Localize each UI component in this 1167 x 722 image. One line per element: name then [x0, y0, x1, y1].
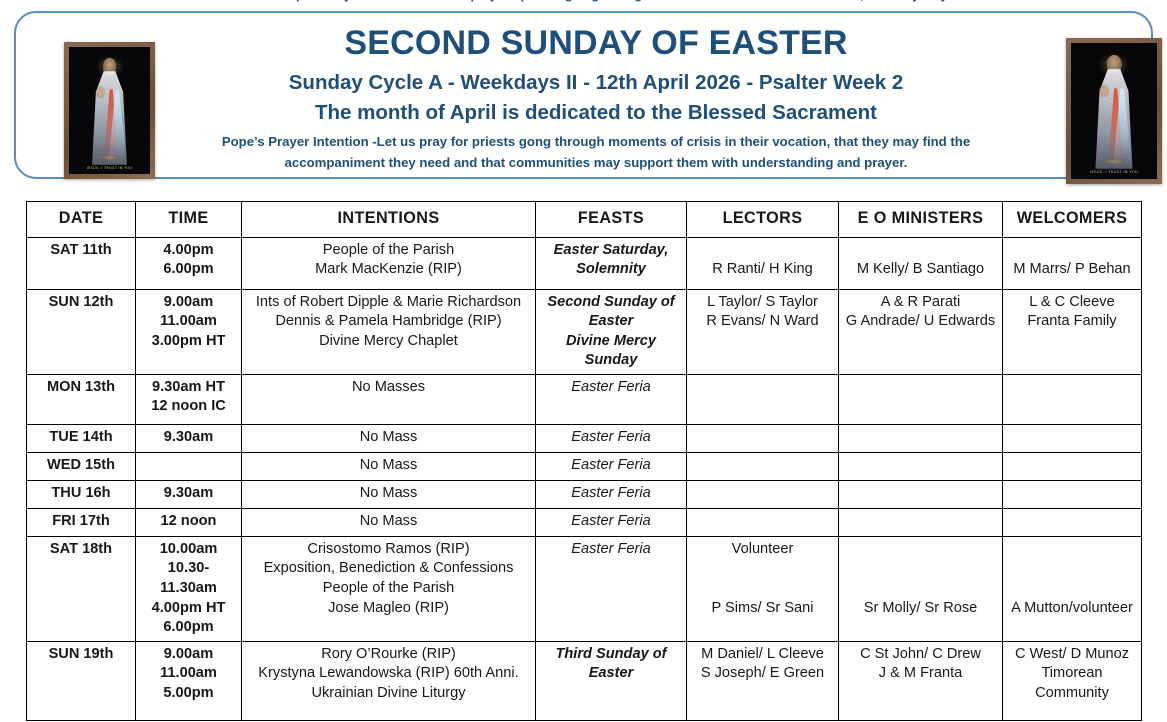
cell-feasts: Easter Feria [536, 536, 687, 641]
cell-line: SAT 11th [31, 241, 131, 261]
cell-feasts: Easter Feria [536, 508, 687, 536]
cell-line: Easter Feria [540, 428, 682, 448]
table-row: SUN 12th9.00am11.00am3.00pm HTInts of Ro… [27, 289, 1142, 374]
cell-line: M Daniel/ L Cleeve [691, 645, 834, 665]
cell-line: Easter Feria [540, 512, 682, 532]
cell-time: 9.00am11.00am5.00pm [136, 641, 242, 720]
cell-line: 9.00am [140, 293, 237, 313]
cell-lectors [687, 374, 839, 424]
cell-lectors [687, 452, 839, 480]
table-row: THU 16h9.30amNo MassEaster Feria [27, 480, 1142, 508]
blank-line [691, 241, 834, 261]
cell-line: Jose Magleo (RIP) [246, 599, 531, 619]
cell-line: WED 15th [31, 456, 131, 476]
cell-eo-ministers [839, 452, 1003, 480]
cell-eo-ministers: M Kelly/ B Santiago [839, 237, 1003, 289]
cell-line: Easter Saturday, [540, 241, 682, 261]
cell-intentions: No Mass [242, 424, 536, 452]
cell-line: 11.00am [140, 664, 237, 684]
cell-intentions: No Mass [242, 452, 536, 480]
prayer-intention: Pope’s Prayer Intention -Let us pray for… [177, 132, 1015, 173]
cell-time: 9.30am HT12 noon IC [136, 374, 242, 424]
cell-intentions: Rory O’Rourke (RIP)Krystyna Lewandowska … [242, 641, 536, 720]
cell-eo-ministers [839, 374, 1003, 424]
cell-eo-ministers: Sr Molly/ Sr Rose [839, 536, 1003, 641]
cell-line: Volunteer [691, 540, 834, 560]
column-header-intentions: INTENTIONS [242, 202, 536, 238]
cell-line: Third Sunday of [540, 645, 682, 665]
cell-lectors: L Taylor/ S TaylorR Evans/ N Ward [687, 289, 839, 374]
cell-welcomers [1003, 424, 1142, 452]
cell-time: 12 noon [136, 508, 242, 536]
table-row: WED 15thNo MassEaster Feria [27, 452, 1142, 480]
cell-line: THU 16h [31, 484, 131, 504]
cell-line: Sr Molly/ Sr Rose [843, 599, 998, 619]
newsletter-banner: JESUS, I TRUST IN YOU JESUS, I TRUST IN … [14, 11, 1153, 179]
cell-line: TUE 14th [31, 428, 131, 448]
cell-eo-ministers: A & R ParatiG Andrade/ U Edwards [839, 289, 1003, 374]
cell-line: No Mass [246, 456, 531, 476]
blank-line [1007, 559, 1137, 579]
cell-line: 6.00pm [140, 260, 237, 280]
cell-welcomers [1003, 480, 1142, 508]
table-header-row: DATE TIME INTENTIONS FEASTS LECTORS E O … [27, 202, 1142, 238]
cell-line: Divine Mercy Chaplet [246, 332, 531, 352]
cell-line: SUN 12th [31, 293, 131, 313]
cell-feasts: Easter Feria [536, 452, 687, 480]
cell-line: Ukrainian Divine Liturgy [246, 684, 531, 704]
cell-intentions: People of the ParishMark MacKenzie (RIP) [242, 237, 536, 289]
feet-shape [1104, 159, 1125, 164]
blank-line [1007, 540, 1137, 560]
mass-schedule-table: DATE TIME INTENTIONS FEASTS LECTORS E O … [26, 201, 1142, 721]
cell-feasts: Second Sunday ofEasterDivine Mercy Sunda… [536, 289, 687, 374]
banner-text-block: SECOND SUNDAY OF EASTER Sunday Cycle A -… [166, 23, 1026, 173]
cell-date: SUN 12th [27, 289, 136, 374]
cell-time [136, 452, 242, 480]
cell-line: 6.00pm [140, 618, 237, 638]
column-header-date: DATE [27, 202, 136, 238]
cell-eo-ministers [839, 508, 1003, 536]
divine-mercy-image-left: JESUS, I TRUST IN YOU [64, 42, 155, 179]
cell-feasts: Easter Saturday,Solemnity [536, 237, 687, 289]
cell-line: Second Sunday of [540, 293, 682, 313]
cell-line: 10.00am [140, 540, 237, 560]
cell-line: S Joseph/ E Green [691, 664, 834, 684]
table-head: DATE TIME INTENTIONS FEASTS LECTORS E O … [27, 202, 1142, 238]
blank-line [843, 579, 998, 599]
cell-time: 9.30am [136, 424, 242, 452]
divine-mercy-image-right: JESUS, I TRUST IN YOU [1066, 38, 1162, 184]
cell-line: M Kelly/ B Santiago [843, 260, 998, 280]
cell-line: C West/ D Munoz [1007, 645, 1137, 665]
column-header-lectors: LECTORS [687, 202, 839, 238]
cell-welcomers [1003, 508, 1142, 536]
cell-line: Timorean [1007, 664, 1137, 684]
cell-date: SAT 18th [27, 536, 136, 641]
blank-line [691, 559, 834, 579]
cell-line: FRI 17th [31, 512, 131, 532]
cell-line: Dennis & Pamela Hambridge (RIP) [246, 312, 531, 332]
mass-schedule-section: DATE TIME INTENTIONS FEASTS LECTORS E O … [26, 201, 1141, 721]
cell-line: Easter Feria [540, 378, 682, 398]
month-dedication: The month of April is dedicated to the B… [166, 100, 1026, 127]
cell-line: MON 13th [31, 378, 131, 398]
cell-lectors [687, 508, 839, 536]
cell-eo-ministers [839, 480, 1003, 508]
column-header-feasts: FEASTS [536, 202, 687, 238]
cell-line: SAT 18th [31, 540, 131, 560]
image-caption: JESUS, I TRUST IN YOU [1078, 169, 1150, 174]
cell-date: TUE 14th [27, 424, 136, 452]
cell-line: Ints of Robert Dipple & Marie Richardson [246, 293, 531, 313]
cell-feasts: Easter Feria [536, 374, 687, 424]
cell-time: 4.00pm6.00pm [136, 237, 242, 289]
cell-line: P Sims/ Sr Sani [691, 599, 834, 619]
cell-time: 10.00am10.30-11.30am4.00pm HT6.00pm [136, 536, 242, 641]
divine-mercy-canvas: JESUS, I TRUST IN YOU [1071, 43, 1157, 179]
cell-line: No Mass [246, 512, 531, 532]
cell-line: M Marrs/ P Behan [1007, 260, 1137, 280]
cell-lectors: VolunteerP Sims/ Sr Sani [687, 536, 839, 641]
page-title: SECOND SUNDAY OF EASTER [166, 23, 1026, 63]
cell-line: 11.00am [140, 312, 237, 332]
cut-off-text: Pope's Prayer Intention - Let us pray fo… [280, 0, 900, 2]
cell-line: Rory O’Rourke (RIP) [246, 645, 531, 665]
cell-line: 5.00pm [140, 684, 237, 704]
divine-mercy-canvas: JESUS, I TRUST IN YOU [69, 47, 150, 174]
cell-line: 9.30am HT [140, 378, 237, 398]
image-caption: JESUS, I TRUST IN YOU [75, 166, 143, 170]
cell-line: A & R Parati [843, 293, 998, 313]
cell-line: 10.30-11.30am [140, 559, 237, 598]
cell-line: L & C Cleeve [1007, 293, 1137, 313]
column-header-time: TIME [136, 202, 242, 238]
table-row: SAT 18th10.00am10.30-11.30am4.00pm HT6.0… [27, 536, 1142, 641]
cell-line: Solemnity [540, 260, 682, 280]
cut-off-text-sliver: Pope's Prayer Intention - Let us pray fo… [0, 0, 1167, 8]
cell-line: 3.00pm HT [140, 332, 237, 352]
cell-eo-ministers [839, 424, 1003, 452]
cell-welcomers [1003, 374, 1142, 424]
cell-line: 9.30am [140, 428, 237, 448]
cell-line: 12 noon [140, 512, 237, 532]
cell-line: Franta Family [1007, 312, 1137, 332]
cell-time: 9.00am11.00am3.00pm HT [136, 289, 242, 374]
cell-line: R Evans/ N Ward [691, 312, 834, 332]
feet-shape [100, 155, 119, 160]
cell-line: L Taylor/ S Taylor [691, 293, 834, 313]
cell-feasts: Easter Feria [536, 480, 687, 508]
cell-date: FRI 17th [27, 508, 136, 536]
cell-welcomers: A Mutton/volunteer [1003, 536, 1142, 641]
cell-intentions: No Masses [242, 374, 536, 424]
cell-line: G Andrade/ U Edwards [843, 312, 998, 332]
cell-feasts: Easter Feria [536, 424, 687, 452]
cell-intentions: No Mass [242, 480, 536, 508]
cell-lectors: R Ranti/ H King [687, 237, 839, 289]
table-row: MON 13th9.30am HT12 noon ICNo MassesEast… [27, 374, 1142, 424]
cell-welcomers: M Marrs/ P Behan [1003, 237, 1142, 289]
cell-line: No Mass [246, 484, 531, 504]
table-row: FRI 17th12 noonNo MassEaster Feria [27, 508, 1142, 536]
cell-line: Easter Feria [540, 484, 682, 504]
blessing-hand-shape [1099, 85, 1108, 97]
table-body: SAT 11th4.00pm6.00pmPeople of the Parish… [27, 237, 1142, 720]
cell-date: THU 16h [27, 480, 136, 508]
cell-line: Community [1007, 684, 1137, 704]
cell-line: Divine Mercy Sunday [540, 332, 682, 371]
cell-intentions: Crisostomo Ramos (RIP)Exposition, Benedi… [242, 536, 536, 641]
cell-line: Easter Feria [540, 456, 682, 476]
blessing-hand-shape [96, 86, 105, 97]
cell-line: 4.00pm [140, 241, 237, 261]
cell-welcomers: C West/ D MunozTimoreanCommunity [1003, 641, 1142, 720]
cell-date: SAT 11th [27, 237, 136, 289]
cell-line: No Masses [246, 378, 531, 398]
cell-line: A Mutton/volunteer [1007, 599, 1137, 619]
cell-eo-ministers: C St John/ C DrewJ & M Franta [839, 641, 1003, 720]
cell-feasts: Third Sunday ofEaster [536, 641, 687, 720]
cell-welcomers [1003, 452, 1142, 480]
blank-line [691, 579, 834, 599]
cell-line: No Mass [246, 428, 531, 448]
cell-line: Exposition, Benediction & Confessions [246, 559, 531, 579]
cell-intentions: No Mass [242, 508, 536, 536]
cell-time: 9.30am [136, 480, 242, 508]
cell-line: 4.00pm HT [140, 599, 237, 619]
blank-line [1007, 579, 1137, 599]
cell-line: People of the Parish [246, 579, 531, 599]
table-row: TUE 14th9.30amNo MassEaster Feria [27, 424, 1142, 452]
cell-line: Easter Feria [540, 540, 682, 560]
cell-line: Mark MacKenzie (RIP) [246, 260, 531, 280]
cell-date: SUN 19th [27, 641, 136, 720]
table-row: SAT 11th4.00pm6.00pmPeople of the Parish… [27, 237, 1142, 289]
cell-date: WED 15th [27, 452, 136, 480]
column-header-welcomers: WELCOMERS [1003, 202, 1142, 238]
liturgical-subtitle: Sunday Cycle A - Weekdays II - 12th Apri… [166, 70, 1026, 97]
cell-lectors [687, 480, 839, 508]
cell-line: Krystyna Lewandowska (RIP) 60th Anni. [246, 664, 531, 684]
cell-line: People of the Parish [246, 241, 531, 261]
cell-line: Crisostomo Ramos (RIP) [246, 540, 531, 560]
blank-line [843, 540, 998, 560]
blank-line [843, 241, 998, 261]
blank-line [843, 559, 998, 579]
cell-date: MON 13th [27, 374, 136, 424]
cell-intentions: Ints of Robert Dipple & Marie Richardson… [242, 289, 536, 374]
cell-line: 9.00am [140, 645, 237, 665]
cell-line: J & M Franta [843, 664, 998, 684]
column-header-eo-ministers: E O MINISTERS [839, 202, 1003, 238]
cell-line: Easter [540, 664, 682, 684]
cell-line: 9.30am [140, 484, 237, 504]
table-row: SUN 19th9.00am11.00am5.00pmRory O’Rourke… [27, 641, 1142, 720]
cell-line: 12 noon IC [140, 397, 237, 417]
cell-lectors: M Daniel/ L CleeveS Joseph/ E Green [687, 641, 839, 720]
cell-line: SUN 19th [31, 645, 131, 665]
cell-line: C St John/ C Drew [843, 645, 998, 665]
blank-line [1007, 241, 1137, 261]
cell-welcomers: L & C CleeveFranta Family [1003, 289, 1142, 374]
cell-line: R Ranti/ H King [691, 260, 834, 280]
cell-lectors [687, 424, 839, 452]
cell-line: Easter [540, 312, 682, 332]
